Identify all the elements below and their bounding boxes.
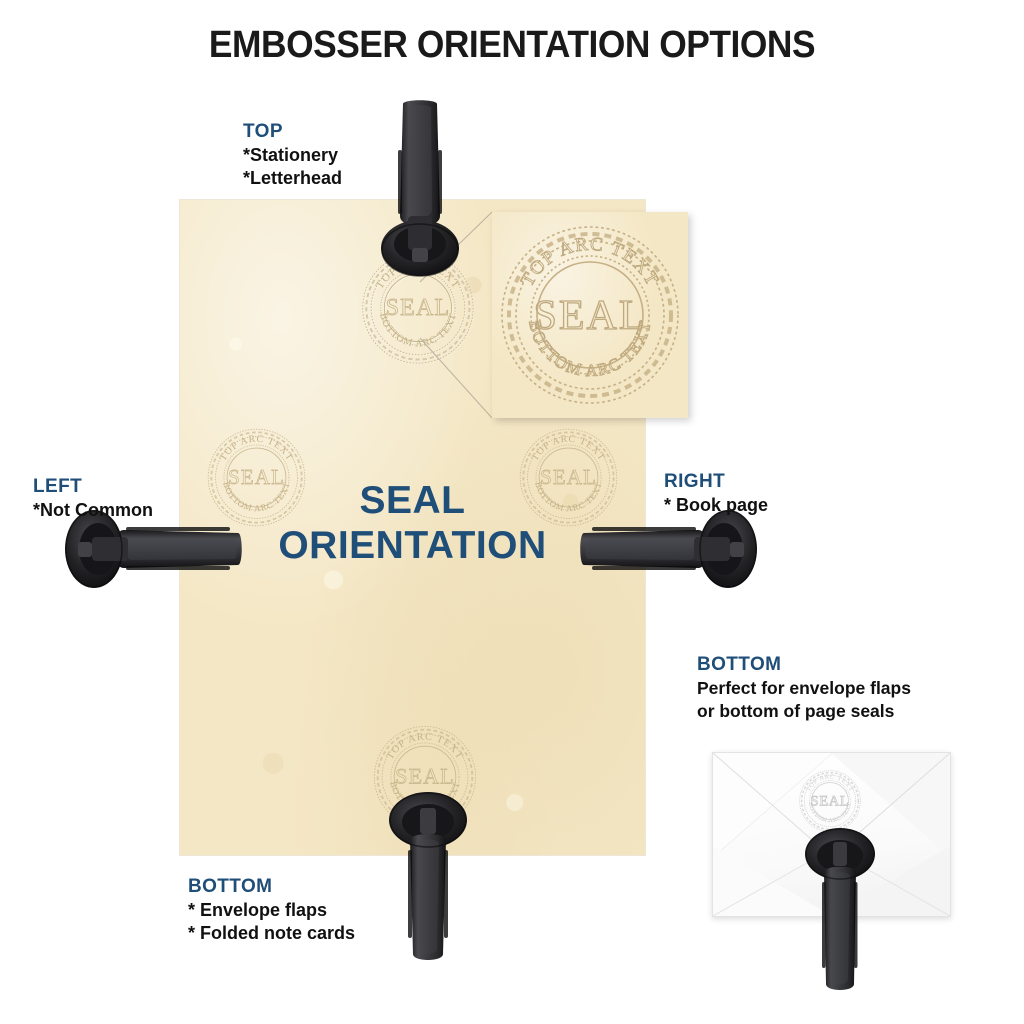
label-top: TOP *Stationery *Letterhead bbox=[243, 120, 342, 191]
label-left-head: LEFT bbox=[33, 475, 153, 499]
label-bottom-head: BOTTOM bbox=[188, 875, 355, 899]
page-title: EMBOSSER ORIENTATION OPTIONS bbox=[36, 24, 988, 67]
label-envelope-bottom: BOTTOM Perfect for envelope flaps or bot… bbox=[697, 653, 911, 722]
label-bottom-line-1: * Envelope flaps bbox=[188, 899, 355, 922]
label-left-line-1: *Not Common bbox=[33, 499, 153, 522]
label-envelope-line-1: Perfect for envelope flaps bbox=[697, 677, 911, 700]
label-top-line-1: *Stationery bbox=[243, 144, 342, 167]
label-right: RIGHT * Book page bbox=[664, 470, 768, 517]
label-envelope-head: BOTTOM bbox=[697, 653, 911, 677]
label-envelope-line-2: or bottom of page seals bbox=[697, 700, 911, 723]
label-bottom: BOTTOM * Envelope flaps * Folded note ca… bbox=[188, 875, 355, 946]
label-right-head: RIGHT bbox=[664, 470, 768, 494]
label-top-head: TOP bbox=[243, 120, 342, 144]
embosser-tool-right[interactable] bbox=[578, 505, 760, 591]
label-left: LEFT *Not Common bbox=[33, 475, 153, 522]
embosser-tool-bottom[interactable] bbox=[380, 788, 476, 966]
svg-text:SEAL: SEAL bbox=[534, 293, 647, 339]
label-bottom-line-2: * Folded note cards bbox=[188, 922, 355, 945]
embosser-tool-top[interactable] bbox=[372, 98, 468, 278]
seal-magnifier-callout: TOP ARC TEXT BOTTOM ARC TEXT SEAL bbox=[492, 212, 688, 418]
label-top-line-2: *Letterhead bbox=[243, 167, 342, 190]
label-right-line-1: * Book page bbox=[664, 494, 768, 517]
embosser-tool-envelope[interactable] bbox=[797, 824, 883, 996]
